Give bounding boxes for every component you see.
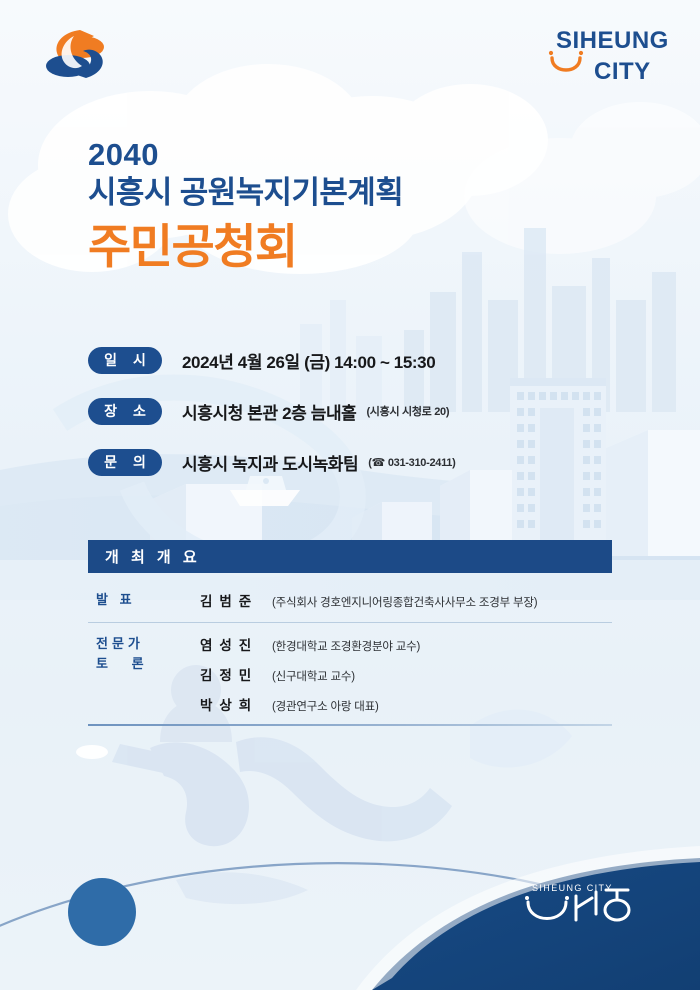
group-label-panel-line2: 토 론 — [96, 654, 200, 674]
group-presentation: 발 표 김 범 준 (주식회사 경호엔지니어링종합건축사사무소 조경부 부장) — [88, 579, 612, 616]
person-affiliation: (신구대학교 교수) — [272, 668, 355, 684]
person-row: 김 정 민 (신구대학교 교수) — [200, 664, 612, 684]
group-label-panel-line1: 전문가 — [96, 636, 144, 651]
info-label-venue: 장 소 — [88, 398, 162, 425]
siheung-city-emblem-icon — [40, 26, 112, 84]
person-affiliation: (한경대학교 조경환경분야 교수) — [272, 638, 420, 654]
divider-line-2 — [88, 724, 612, 726]
wordmark-line2-text: CITY — [594, 58, 651, 85]
info-label-datetime: 일 시 — [88, 347, 162, 374]
info-label-contact: 문 의 — [88, 449, 162, 476]
person-row: 염 성 진 (한경대학교 조경환경분야 교수) — [200, 634, 612, 654]
section-header-bar: 개 최 개 요 — [88, 540, 612, 573]
title-year: 2040 — [88, 138, 403, 171]
person-name: 김 범 준 — [200, 590, 262, 610]
info-note-contact: (☎ 031-310-2411) — [368, 456, 455, 469]
person-affiliation: (주식회사 경호엔지니어링종합건축사사무소 조경부 부장) — [272, 594, 537, 610]
person-name: 김 정 민 — [200, 664, 262, 684]
poster-title: 2040 시흥시 공원녹지기본계획 주민공청회 — [88, 138, 403, 275]
section-body: 발 표 김 범 준 (주식회사 경호엔지니어링종합건축사사무소 조경부 부장) … — [88, 573, 612, 726]
section-header-text: 개 최 개 요 — [105, 546, 201, 567]
info-row-venue: 장 소 시흥시청 본관 2층 늠내홀 (시흥시 시청로 20) — [88, 391, 648, 431]
title-plan: 시흥시 공원녹지기본계획 — [88, 173, 403, 213]
title-event: 주민공청회 — [88, 219, 403, 274]
accent-circle — [68, 878, 136, 946]
person-name: 염 성 진 — [200, 634, 262, 654]
event-info-list: 일 시 2024년 4월 26일 (금) 14:00 ~ 15:30 장 소 시… — [88, 340, 648, 493]
info-value-contact: 시흥시 녹지과 도시녹화팀 — [182, 450, 358, 475]
group-label-panel: 전문가 토 론 — [88, 634, 200, 674]
person-name: 박 상 희 — [200, 694, 262, 714]
group-panel-discussion: 전문가 토 론 염 성 진 (한경대학교 조경환경분야 교수) 김 정 민 (신… — [88, 623, 612, 720]
siheung-city-wordmark: SIHEUNG CITY — [536, 22, 668, 88]
runner-silhouette — [112, 737, 452, 904]
info-value-datetime: 2024년 4월 26일 (금) 14:00 ~ 15:30 — [182, 348, 435, 373]
group-label-presentation: 발 표 — [88, 590, 200, 610]
person-row: 김 범 준 (주식회사 경호엔지니어링종합건축사사무소 조경부 부장) — [200, 590, 612, 610]
group-rows-panel: 염 성 진 (한경대학교 조경환경분야 교수) 김 정 민 (신구대학교 교수)… — [200, 634, 612, 716]
footer-siheung-logo: SIHEUNG CITY — [514, 876, 664, 938]
footer-logo-caption-text: SIHEUNG CITY — [532, 883, 613, 893]
event-outline-section: 개 최 개 요 발 표 김 범 준 (주식회사 경호엔지니어링종합건축사사무소 … — [88, 540, 612, 726]
person-row: 박 상 희 (경관연구소 아랑 대표) — [200, 694, 612, 714]
group-label-presentation-line1: 발 표 — [96, 592, 136, 607]
info-value-venue: 시흥시청 본관 2층 늠내홀 — [182, 399, 356, 424]
info-note-venue: (시흥시 시청로 20) — [366, 403, 449, 419]
wordmark-line1-text: SIHEUNG — [556, 27, 668, 54]
poster-header: SIHEUNG CITY — [0, 0, 700, 100]
person-affiliation: (경관연구소 아랑 대표) — [272, 698, 379, 714]
poster-canvas: SIHEUNG CITY 2040 시흥시 공원녹지기본계획 주민공청회 일 시… — [0, 0, 700, 990]
group-rows-presentation: 김 범 준 (주식회사 경호엔지니어링종합건축사사무소 조경부 부장) — [200, 590, 612, 612]
info-row-contact: 문 의 시흥시 녹지과 도시녹화팀 (☎ 031-310-2411) — [88, 442, 648, 482]
info-row-datetime: 일 시 2024년 4월 26일 (금) 14:00 ~ 15:30 — [88, 340, 648, 380]
